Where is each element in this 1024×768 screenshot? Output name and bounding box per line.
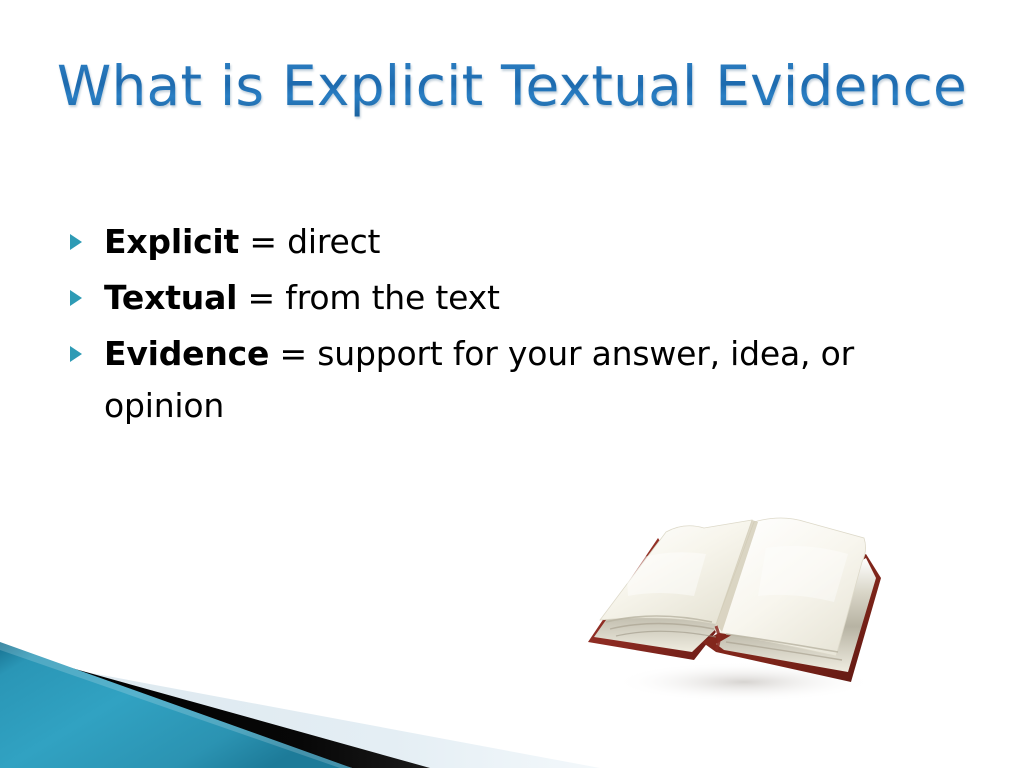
- slide-title-area: What is Explicit Textual Evidence: [0, 44, 1024, 128]
- bullet-term: Evidence: [104, 334, 269, 373]
- list-item: Evidence = support for your answer, idea…: [62, 328, 962, 432]
- triangle-bullet-icon: [70, 346, 82, 362]
- triangle-bullet-icon: [70, 290, 82, 306]
- bullet-equals: =: [239, 222, 287, 261]
- page-title: What is Explicit Textual Evidence: [57, 44, 967, 128]
- bullet-equals: =: [237, 278, 285, 317]
- bullet-term: Textual: [104, 278, 237, 317]
- bullet-term: Explicit: [104, 222, 239, 261]
- bullet-list: Explicit = direct Textual = from the tex…: [62, 216, 962, 436]
- bullet-definition: direct: [287, 222, 380, 261]
- list-item: Explicit = direct: [62, 216, 962, 268]
- bullet-equals: =: [269, 334, 317, 373]
- bullet-definition: from the text: [285, 278, 499, 317]
- slide: What is Explicit Textual Evidence Explic…: [0, 0, 1024, 768]
- open-book-icon: [566, 492, 896, 707]
- triangle-bullet-icon: [70, 234, 82, 250]
- list-item: Textual = from the text: [62, 272, 962, 324]
